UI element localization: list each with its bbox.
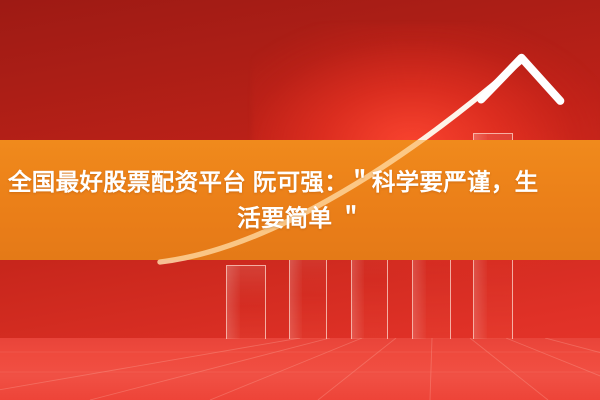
banner-image: 全国最好股票配资平台 阮可强：＂科学要严谨，生 活要简单 ＂ — [0, 0, 600, 400]
bar-highlight — [227, 266, 240, 339]
banner-headline-line-1: 全国最好股票配资平台 阮可强：＂科学要严谨，生 — [4, 165, 596, 199]
bar-1 — [226, 265, 266, 339]
banner-text-block: 全国最好股票配资平台 阮可强：＂科学要严谨，生 活要简单 ＂ — [0, 140, 600, 260]
banner-headline-line-2: 活要简单 ＂ — [4, 201, 596, 235]
